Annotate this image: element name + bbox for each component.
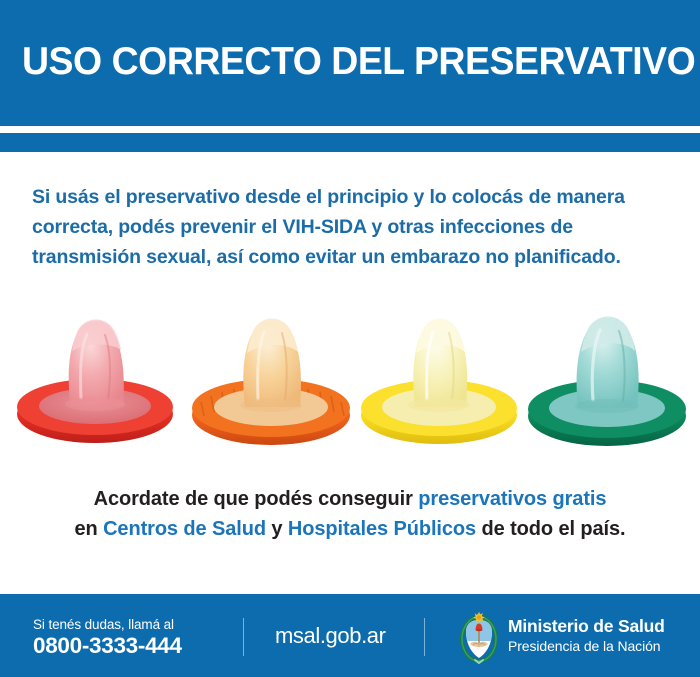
promo-line1-highlight: preservativos gratis [418, 488, 606, 510]
promo-highlight-hospitales-publicos: Hospitales Públicos [288, 518, 476, 540]
condom-teal [520, 286, 695, 456]
page-title: USO CORRECTO DEL PRESERVATIVO [22, 40, 656, 84]
header-accent-bar [0, 133, 700, 152]
intro-paragraph: Si usás el preservativo desde el princip… [32, 182, 672, 272]
promo-line2-tail: de todo el país. [476, 518, 625, 540]
condom-yellow [352, 286, 527, 456]
footer-phone-block: Si tenés dudas, llamá al 0800-3333-444 [33, 617, 182, 659]
footer-divider-2 [424, 618, 425, 656]
promo-line1-text: Acordate de que podés conseguir [94, 488, 419, 510]
condom-orange [184, 286, 359, 456]
argentina-coat-of-arms-icon [457, 608, 501, 666]
phone-number[interactable]: 0800-3333-444 [33, 633, 182, 659]
ministry-subtitle: Presidencia de la Nación [508, 637, 665, 655]
condom-red [8, 286, 183, 456]
footer-ministry-block: Ministerio de Salud Presidencia de la Na… [457, 608, 687, 666]
ministry-name: Ministerio de Salud [508, 616, 665, 637]
phone-prompt-label: Si tenés dudas, llamá al [33, 617, 182, 633]
promo-highlight-centros-salud: Centros de Salud [103, 518, 266, 540]
footer-divider-1 [243, 618, 244, 656]
promo-line2-text: en [74, 518, 103, 540]
condom-image-row [0, 286, 700, 456]
promo-line2-conjunction: y [266, 518, 288, 540]
ministry-text-block: Ministerio de Salud Presidencia de la Na… [508, 616, 665, 655]
footer-website-link[interactable]: msal.gob.ar [275, 623, 386, 649]
promo-message: Acordate de que podés conseguir preserva… [30, 484, 670, 544]
poster-canvas: USO CORRECTO DEL PRESERVATIVO Si usás el… [0, 0, 700, 677]
